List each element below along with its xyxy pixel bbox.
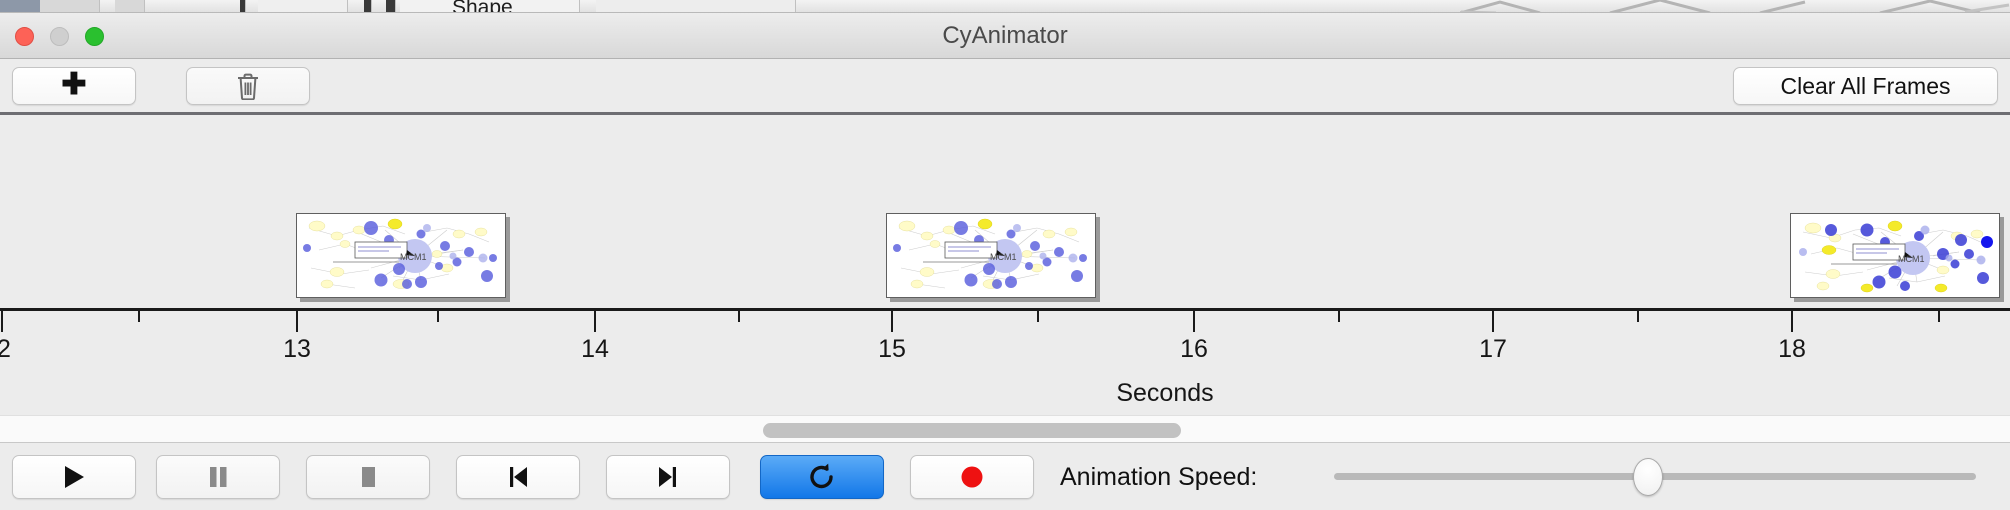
skip-fwd-icon	[655, 463, 681, 491]
toolbar: ✚ Clear All Frames	[0, 59, 2010, 112]
record-button[interactable]	[910, 455, 1034, 499]
timeline-scrollbar-thumb[interactable]	[763, 423, 1181, 438]
play-icon	[61, 463, 87, 491]
axis-tick-label: 15	[878, 335, 906, 364]
axis-tick-major	[296, 311, 298, 332]
axis-tick-major	[1193, 311, 1195, 332]
axis-tick-label: 16	[1180, 335, 1208, 364]
axis-title: Seconds	[0, 379, 2010, 408]
axis-tick-minor	[738, 311, 740, 322]
axis-tick-minor	[1037, 311, 1039, 322]
timeline-frame[interactable]: MCM1	[296, 213, 506, 298]
animation-speed-slider-thumb[interactable]	[1633, 458, 1663, 496]
clear-all-frames-button[interactable]: Clear All Frames	[1733, 67, 1998, 105]
delete-frame-button[interactable]	[186, 67, 310, 105]
axis-tick-label: 17	[1479, 335, 1507, 364]
pause-button[interactable]	[156, 455, 280, 499]
add-frame-button[interactable]: ✚	[12, 67, 136, 105]
skip-back-icon	[505, 463, 531, 491]
axis-tick-label: 2	[0, 335, 11, 364]
axis-tick-minor	[1637, 311, 1639, 322]
axis-tick-minor	[1938, 311, 1940, 322]
background-window-label: Shape	[452, 0, 513, 13]
timeline-panel[interactable]: MCM1	[0, 115, 2010, 410]
loop-icon	[807, 462, 837, 492]
axis-tick-label: 14	[581, 335, 609, 364]
axis-tick-label: 13	[283, 335, 311, 364]
axis-tick-major	[1492, 311, 1494, 332]
clear-all-frames-label: Clear All Frames	[1781, 73, 1951, 100]
timeline-frame[interactable]: MCM1	[886, 213, 1096, 298]
pause-icon	[205, 463, 231, 491]
record-icon	[959, 464, 985, 490]
next-frame-button[interactable]	[606, 455, 730, 499]
loop-button[interactable]	[760, 455, 884, 499]
axis-tick-minor	[437, 311, 439, 322]
axis-tick-major	[891, 311, 893, 332]
axis-tick-label: 18	[1778, 335, 1806, 364]
timeline-axis-line	[0, 308, 2010, 311]
trash-icon	[236, 73, 260, 100]
timeline-scrollbar[interactable]	[0, 415, 2010, 443]
svg-text:MCM1: MCM1	[990, 252, 1017, 262]
axis-tick-minor	[1338, 311, 1340, 322]
stop-button[interactable]	[306, 455, 430, 499]
playback-bar: Animation Speed:	[0, 444, 2010, 510]
axis-tick-major	[1, 311, 3, 332]
background-network-edges-icon	[1460, 0, 2010, 13]
svg-text:MCM1: MCM1	[1898, 254, 1925, 264]
play-button[interactable]	[12, 455, 136, 499]
axis-tick-major	[1791, 311, 1793, 332]
plus-icon: ✚	[61, 70, 86, 100]
window-title: CyAnimator	[0, 13, 2010, 59]
stop-icon	[355, 463, 381, 491]
previous-frame-button[interactable]	[456, 455, 580, 499]
axis-tick-minor	[138, 311, 140, 322]
cyanimator-window: Shape CyAnimator ✚ Clear All Frames	[0, 0, 2010, 510]
animation-speed-label: Animation Speed:	[1060, 455, 1257, 499]
timeline-frame[interactable]: MCM1	[1790, 213, 2000, 298]
title-bar: CyAnimator	[0, 13, 2010, 59]
svg-text:MCM1: MCM1	[400, 252, 427, 262]
background-window-strip: Shape	[0, 0, 2010, 13]
axis-tick-major	[594, 311, 596, 332]
